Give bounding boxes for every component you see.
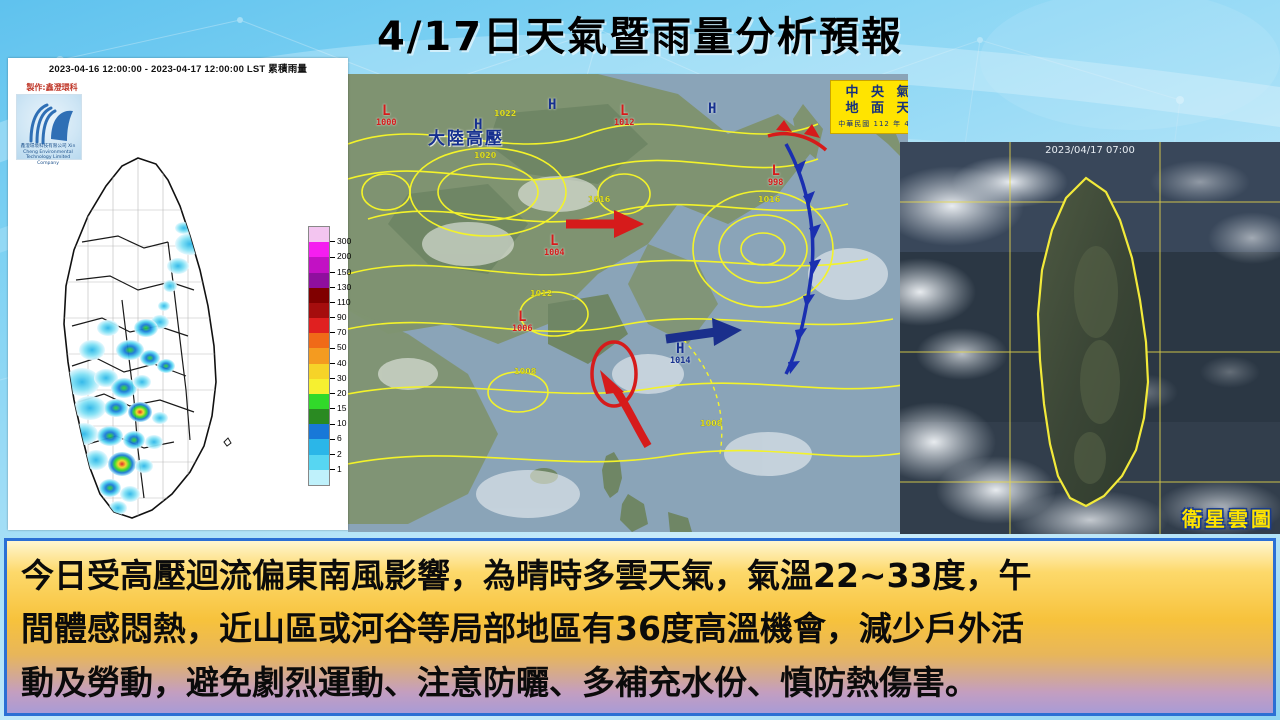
colorbar-tick-1: 1 <box>330 464 342 474</box>
rainfall-panel: 2023-04-16 12:00:00 - 2023-04-17 12:00:0… <box>8 58 348 530</box>
logo-caption-cn: 鑫澄環境科技有限公司 <box>21 144 67 149</box>
colorbar-tick-40: 40 <box>330 358 346 368</box>
pressure-center-high-2: H <box>548 98 556 112</box>
pressure-center-high-3: H <box>708 102 716 116</box>
colorbar-segment <box>309 394 329 409</box>
svg-text:1016: 1016 <box>588 195 611 204</box>
low-value: 1012 <box>614 118 634 128</box>
rainfall-header: 2023-04-16 12:00:00 - 2023-04-17 12:00:0… <box>8 61 348 75</box>
pressure-center-low-4: L 1006 <box>512 310 532 334</box>
rainfall-quantity-label: 累積雨量 <box>268 64 307 75</box>
low-value: 998 <box>768 178 783 188</box>
colorbar-segment <box>309 379 329 394</box>
agency-stamp: 中 央 氣 象 局 地 面 天 氣 圖 中華民國 112 年 4 月 17 日 … <box>830 80 908 134</box>
colorbar-tick-15: 15 <box>330 403 346 413</box>
high-symbol: H <box>670 342 690 356</box>
colorbar-segment <box>309 333 329 348</box>
svg-text:1020: 1020 <box>474 151 497 160</box>
annotation-continental-high: 大陸高壓 <box>428 124 504 149</box>
low-value: 1000 <box>376 118 396 128</box>
colorbar-segment <box>309 257 329 272</box>
low-value: 1004 <box>544 248 564 258</box>
forecast-line-1: 今日受高壓迴流偏東南風影響，為晴時多雲天氣，氣溫22~33度，午 <box>21 549 1259 602</box>
colorbar-tick-30: 30 <box>330 373 346 383</box>
agency-name: 中 央 氣 象 局 <box>845 85 908 101</box>
colorbar-tick-90: 90 <box>330 312 346 322</box>
colorbar-tick-2: 2 <box>330 449 342 459</box>
colorbar-segment <box>309 288 329 303</box>
colorbar-segment <box>309 273 329 288</box>
page-title: 4/17日天氣暨雨量分析預報 <box>0 4 1280 62</box>
chart-date: 中華民國 112 年 4 月 17 日 02 時 <box>838 119 908 129</box>
svg-text:1016: 1016 <box>758 195 781 204</box>
pressure-center-high-4: H 1014 <box>670 342 690 366</box>
low-symbol: L <box>376 104 396 118</box>
colorbar-tick-130: 130 <box>330 282 351 292</box>
low-symbol: L <box>512 310 532 324</box>
colorbar-tick-20: 20 <box>330 388 346 398</box>
colorbar-segment <box>309 242 329 257</box>
low-symbol: L <box>614 104 634 118</box>
forecast-line-2: 間體感悶熱，近山區或河谷等局部地區有36度高溫機會，減少戶外活 <box>21 602 1259 655</box>
synoptic-chart-panel: 1022 1020 1016 1016 1012 1008 1008 L 100… <box>348 74 908 532</box>
low-symbol: L <box>768 164 783 178</box>
pressure-center-low-2: L 1012 <box>614 104 634 128</box>
svg-text:1012: 1012 <box>530 289 552 298</box>
forecast-line-3: 動及勞動，避免劇烈運動、注意防曬、多補充水份、慎防熱傷害。 <box>21 656 1259 709</box>
rainfall-colorbar-ticks: 3002001501301109070504030201510621 <box>330 218 360 493</box>
colorbar-segment <box>309 409 329 424</box>
maker-label: 製作:鑫澄環科 <box>14 82 90 93</box>
colorbar-segment <box>309 227 329 242</box>
svg-text:1008: 1008 <box>700 419 723 428</box>
colorbar-tick-110: 110 <box>330 297 351 307</box>
forecast-text-banner: 今日受高壓迴流偏東南風影響，為晴時多雲天氣，氣溫22~33度，午 間體感悶熱，近… <box>4 538 1276 716</box>
colorbar-segment <box>309 303 329 318</box>
colorbar-tick-150: 150 <box>330 267 351 277</box>
taiwan-rainfall-map <box>18 150 288 538</box>
satellite-label: 衛星雲圖 <box>1182 503 1274 532</box>
pressure-center-low-3: L 1004 <box>544 234 564 258</box>
satellite-timestamp: 2023/04/17 07:00 <box>900 145 1280 156</box>
high-symbol: H <box>708 102 716 116</box>
colorbar-segment <box>309 455 329 470</box>
svg-text:1022: 1022 <box>494 109 516 118</box>
colorbar-segment <box>309 470 329 485</box>
high-symbol: H <box>548 98 556 112</box>
colorbar-tick-70: 70 <box>330 327 346 337</box>
colorbar-segment <box>309 439 329 454</box>
colorbar-segment <box>309 424 329 439</box>
colorbar-tick-6: 6 <box>330 433 342 443</box>
pressure-center-low-1: L 1000 <box>376 104 396 128</box>
colorbar-tick-10: 10 <box>330 418 346 428</box>
low-symbol: L <box>544 234 564 248</box>
colorbar-tick-300: 300 <box>330 236 351 246</box>
satellite-image <box>900 142 1280 534</box>
colorbar-tick-200: 200 <box>330 251 351 261</box>
rainfall-colorbar <box>308 226 330 486</box>
colorbar-segment <box>309 364 329 379</box>
colorbar-segment <box>309 318 329 333</box>
satellite-panel: 2023/04/17 07:00 衛星雲圖 <box>900 142 1280 534</box>
low-value: 1006 <box>512 324 532 334</box>
colorbar-segment <box>309 348 329 363</box>
colorbar-tick-50: 50 <box>330 342 346 352</box>
pressure-center-low-5: L 998 <box>768 164 783 188</box>
chart-type: 地 面 天 氣 圖 <box>845 101 908 117</box>
rainfall-period: 2023-04-16 12:00:00 - 2023-04-17 12:00:0… <box>49 64 266 75</box>
svg-text:1008: 1008 <box>514 367 537 376</box>
high-value: 1014 <box>670 356 690 366</box>
